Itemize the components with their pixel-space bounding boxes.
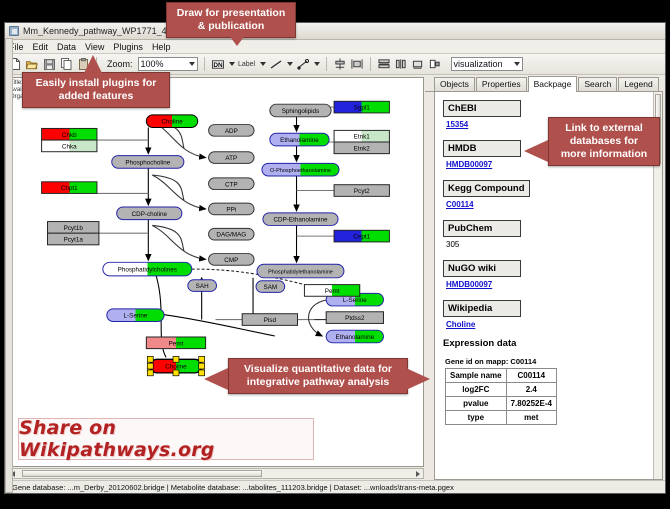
tab-properties[interactable]: Properties [476,77,527,91]
metabolite-node-cmp[interactable]: CMP [209,254,254,266]
callout-visualize-arrow-left-icon [204,368,228,390]
node-label: Pemt [325,288,340,295]
tab-legend[interactable]: Legend [618,77,658,91]
expression-row-value: C00114 [506,369,556,383]
callout-easily-install-plugins: Easily install plugins for added feature… [22,72,170,108]
selection-handle[interactable] [173,370,179,376]
screenshot-root: Mm_Kennedy_pathway_WP1771_45176.gpml Fil… [0,0,670,509]
menu-bar: File Edit Data View Plugins Help [5,40,665,54]
gene-node-pcyt2[interactable]: Pcyt2 [334,185,389,197]
zoom-combo[interactable]: 100% [138,57,198,71]
side-panel-splitter[interactable] [5,38,13,493]
gene-node-pemt-r[interactable]: Pemt [304,285,359,297]
share-text: Share on Wikipathways.org [19,417,313,461]
tab-backpage[interactable]: Backpage [528,76,578,92]
selection-handle[interactable] [173,356,179,362]
label-tool-label: Label [238,61,255,68]
expression-row: Sample nameC00114 [446,369,557,383]
node-label: Phosphocholine [125,159,170,166]
expression-row-label: log2FC [446,383,507,397]
selection-handle[interactable] [199,356,205,362]
gene-node-ptdss2[interactable]: Ptdss2 [326,312,383,324]
node-label: Chka [62,143,77,150]
gene-id-line: Gene id on mapp: C00114 [445,357,662,366]
toolbar-separator [326,57,327,71]
gene-node-pcyt1a[interactable]: Pcyt1a [48,233,99,245]
node-label: Chkb [62,132,77,139]
node-label: Ethanolamine [336,334,375,341]
selection-handle[interactable] [147,356,153,362]
metabolite-node-atp[interactable]: ATP [209,152,254,164]
node-label: Pcyt1a [64,237,84,244]
save-icon[interactable] [42,57,56,72]
section-heading-nugo: NuGO wiki [443,260,521,277]
node-label: Etnk1 [354,134,371,141]
gene-node-chkb[interactable]: Chkb [42,128,97,140]
align-icon[interactable] [333,57,347,72]
label-dropdown-icon[interactable] [260,62,266,66]
section-heading-wikipedia: Wikipedia [443,300,521,317]
callout-share-on-wikipathways: Share on Wikipathways.org [18,418,314,460]
gene-node-pcyt1b[interactable]: Pcyt1b [48,222,99,234]
nugo-link[interactable]: HMDB00097 [446,280,662,289]
selection-handle[interactable] [147,363,153,369]
callout-draw-arrow-icon [228,34,246,46]
scrollbar-thumb[interactable] [22,470,262,477]
open-folder-icon[interactable] [25,57,39,72]
node-label: Choline [165,364,187,371]
node-label: ADP [225,128,238,135]
section-heading-kegg: Kegg Compound [443,180,530,197]
wikipedia-link[interactable]: Choline [446,320,662,329]
visualization-value: visualization [454,59,503,69]
metabolite-node-dagmag[interactable]: DAG/MAG [209,228,254,240]
selection-handle[interactable] [147,370,153,376]
metabolite-node-ctp[interactable]: CTP [209,178,254,190]
node-label: Pisd [264,317,277,324]
node-label: L-Serine [124,313,148,320]
expression-row: typemet [446,411,557,425]
metabolite-node-o-phosphoetha[interactable]: O-Phosphoethanolamine [262,163,339,176]
expression-row-value: met [506,411,556,425]
node-label: O-Phosphoethanolamine [270,168,331,174]
section-heading-pubchem: PubChem [443,220,521,237]
metabolite-node-sah[interactable]: SAH [188,280,217,292]
node-label: CTP [225,181,238,188]
status-bar-text: | Gene database: ...m_Derby_20120602.bri… [8,483,454,492]
interaction-dropdown-icon[interactable] [314,62,320,66]
node-label: Phosphatidylethanolamine [268,270,333,276]
gene-node-pisd[interactable]: Pisd [242,314,297,326]
metabolite-node-ppi[interactable]: PPi [209,203,254,215]
metabolite-node-ethanolamine-bot[interactable]: Ethanolamine [326,330,383,343]
pathvisio-app-icon [9,26,19,36]
section-heading-chebi: ChEBI [443,100,521,117]
node-label: Cept1 [353,234,370,241]
callout-link-arrow-icon [524,140,548,162]
metabolite-node-ptdethanolamine[interactable]: Phosphatidylethanolamine [257,264,344,278]
pathway-diagram[interactable]: CholineSphingolipidsADPATPEthanolaminePh… [8,78,423,466]
node-label: Pemt [169,340,184,347]
pubchem-value: 305 [446,240,662,249]
label-tool[interactable]: Label [238,57,256,72]
callout-visualize-arrow-right-icon [406,368,430,390]
metabolite-node-cdp-ethanolamine[interactable]: CDP-Ethanolamine [263,213,338,226]
line-icon[interactable] [269,57,283,72]
scroll-right-icon[interactable] [416,471,420,477]
gene-node-chka[interactable]: Chka [42,140,97,152]
menu-item-edit[interactable]: Edit [32,42,50,52]
toolbar-separator [370,57,371,71]
menu-item-view[interactable]: View [84,42,105,52]
node-label: CDP-choline [132,211,168,218]
metabolite-node-sphingolipids[interactable]: Sphingolipids [270,104,331,117]
pathway-canvas[interactable]: Title: Availa Organi [7,77,424,467]
metabolite-node-ptdcholines[interactable]: Phosphatidylcholines [103,262,192,276]
expression-row-label: type [446,411,507,425]
order-icon[interactable] [428,57,442,72]
expression-data-title: Expression data [443,338,662,349]
metabolite-node-sam[interactable]: SAM [256,281,285,293]
side-panel-tabs: Objects Properties Backpage Search Legen… [425,77,663,92]
node-label: SAH [196,283,209,290]
node-label: Phosphatidylcholines [118,267,177,274]
visualization-combo[interactable]: visualization [451,57,523,71]
datanode-dropdown-icon[interactable] [229,62,235,66]
metabolite-node-choline-selected[interactable]: Choline [147,356,204,375]
expression-row: log2FC2.4 [446,383,557,397]
node-label: CDP-Ethanolamine [273,217,328,224]
pathway-nodes[interactable]: CholineSphingolipidsADPATPEthanolaminePh… [42,101,390,376]
callout-draw-for-presentation: Draw for presentation & publication [166,2,296,38]
metabolite-node-adp[interactable]: ADP [209,125,254,137]
title-bar: Mm_Kennedy_pathway_WP1771_45176.gpml [5,23,665,40]
callout-visualize-quantitative-data: Visualize quantitative data for integrat… [228,358,408,394]
callout-plugins-arrow-icon [84,55,102,73]
gene-node-chpt1[interactable]: Chpt1 [42,182,97,194]
node-label: Ptdss2 [345,315,365,322]
menu-item-plugins[interactable]: Plugins [112,42,144,52]
node-label: SAM [264,284,278,291]
line-dropdown-icon[interactable] [287,62,293,66]
toolbar-separator [204,57,205,71]
metabolite-node-ethanolamine-top[interactable]: Ethanolamine [270,133,329,146]
node-label: ATP [225,155,237,162]
expression-row-label: Sample name [446,369,507,383]
gene-node-cept1[interactable]: Cept1 [334,230,389,242]
metabolite-node-phosphocholine[interactable]: Phosphocholine [112,156,184,169]
node-label: Choline [161,119,183,126]
copy-icon[interactable] [59,57,73,72]
expression-row-label: pvalue [446,397,507,411]
canvas-horizontal-scrollbar[interactable] [7,468,424,479]
tab-search[interactable]: Search [578,77,617,91]
expression-row-value: 7.80252E-4 [506,397,556,411]
gene-node-etnk1[interactable]: Etnk1 [334,130,389,142]
gene-node-pemt[interactable]: Pemt [146,337,205,349]
interaction-icon[interactable] [296,57,310,72]
zoom-label: Zoom: [107,59,133,69]
node-label: CMP [224,257,238,264]
menu-item-data[interactable]: Data [56,42,77,52]
node-label: L-Serine [343,297,367,304]
distribute-icon[interactable] [350,57,364,72]
expression-row-value: 2.4 [506,383,556,397]
node-label: Ethanolamine [280,137,319,144]
chevron-down-icon [189,62,195,66]
expression-row: pvalue7.80252E-4 [446,397,557,411]
node-label: Chpt1 [61,185,78,192]
node-label: Sgpl1 [354,105,371,112]
stack-icon[interactable] [377,57,391,72]
node-label: Pcyt2 [354,188,370,195]
metabolite-node-choline-top[interactable]: Choline [146,115,197,128]
node-label: Etnk2 [354,145,371,152]
tab-objects[interactable]: Objects [434,77,475,91]
section-heading-hmdb: HMDB [443,140,521,157]
chevron-down-icon [514,62,520,66]
gene-node-sgpl1[interactable]: Sgpl1 [334,101,389,113]
callout-link-to-external-databases: Link to external databases for more info… [548,117,660,166]
expression-table: Sample nameC00114log2FC2.4pvalue7.80252E… [445,368,557,425]
metabolite-node-cdp-choline[interactable]: CDP-choline [117,207,182,220]
spacing-icon[interactable] [394,57,408,72]
metabolite-node-l-serine-left[interactable]: L-Serine [107,309,164,322]
group-icon[interactable] [411,57,425,72]
status-bar: | Gene database: ...m_Derby_20120602.bri… [5,480,665,493]
node-label: Sphingolipids [282,108,320,115]
zoom-value: 100% [141,59,164,69]
datanode-icon[interactable]: DN [211,57,225,72]
kegg-link[interactable]: C00114 [446,200,662,209]
node-label: DAG/MAG [216,232,246,239]
svg-text:DN: DN [213,61,223,68]
gene-node-etnk2[interactable]: Etnk2 [334,142,389,154]
menu-item-help[interactable]: Help [151,42,172,52]
node-label: Pcyt1b [64,225,84,232]
node-label: PPi [226,207,236,214]
